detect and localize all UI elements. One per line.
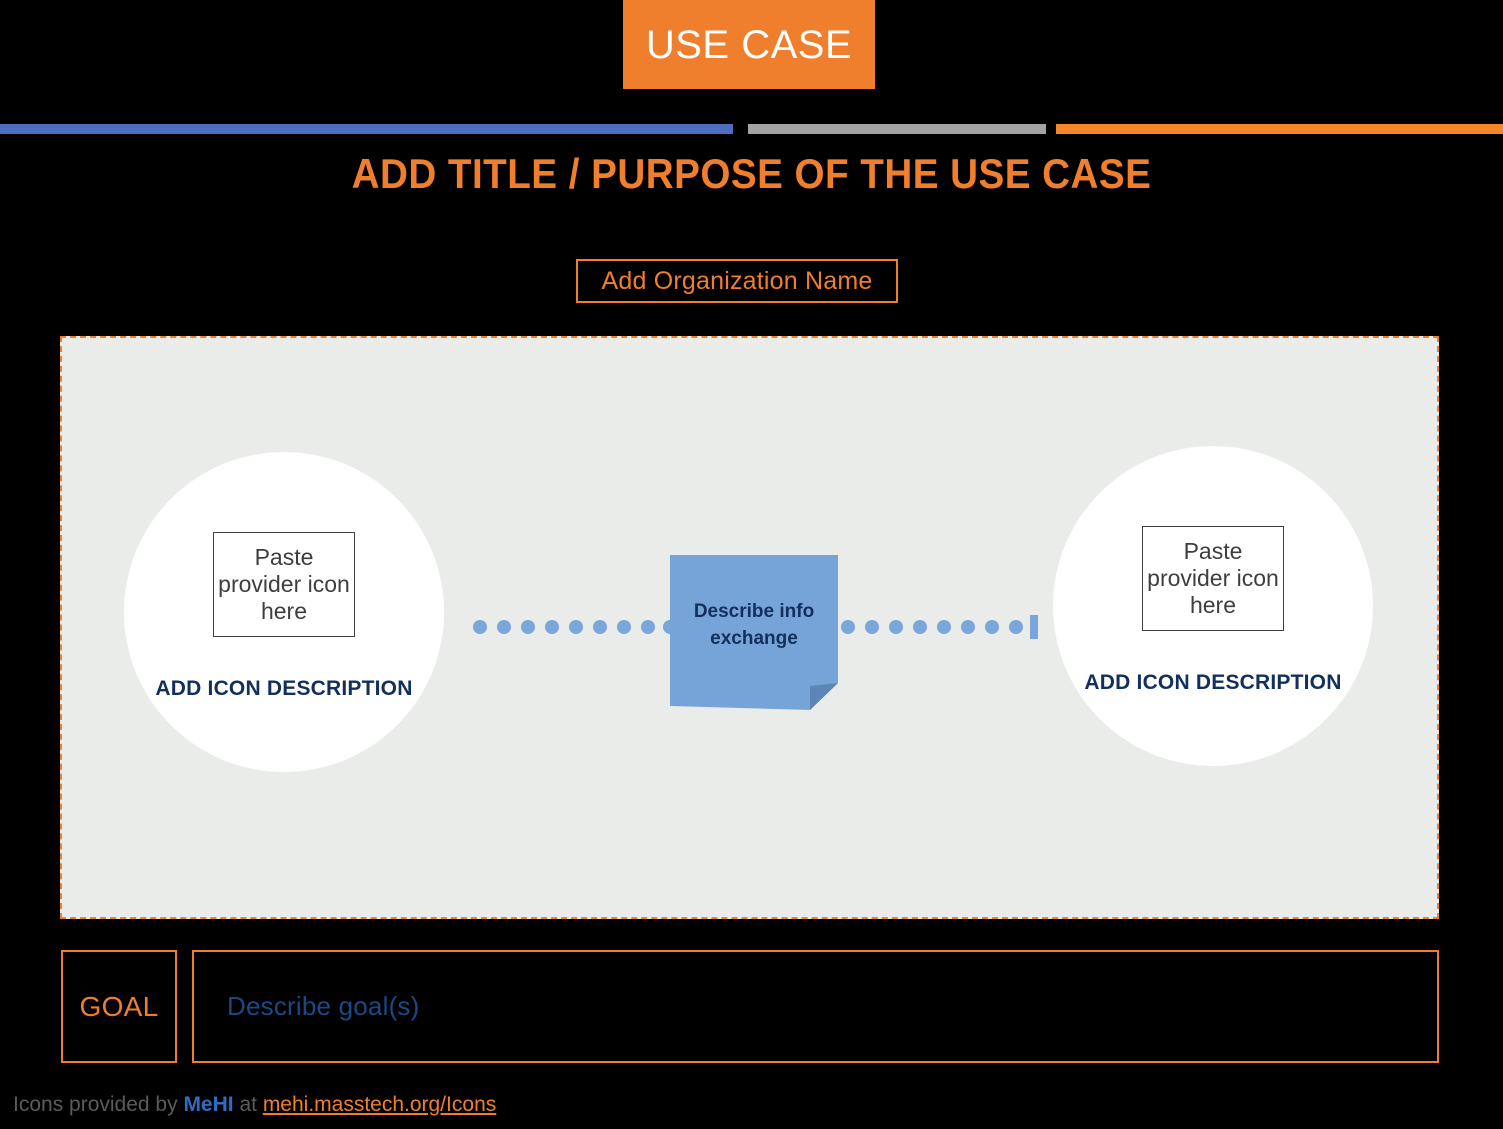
actor-caption-left: ADD ICON DESCRIPTION — [155, 675, 412, 702]
divider-segment-blue — [0, 124, 733, 134]
footer-prefix: Icons provided by — [13, 1093, 183, 1116]
footer-middle: at — [234, 1093, 263, 1116]
organization-name-label: Add Organization Name — [601, 267, 872, 296]
divider-segment-gray — [748, 124, 1046, 134]
use-case-banner: USE CASE — [623, 0, 875, 89]
use-case-banner-label: USE CASE — [646, 25, 852, 65]
connector-right-arrow — [840, 615, 1038, 639]
goal-description-field[interactable]: Describe goal(s) — [192, 950, 1439, 1063]
goal-description-value: Describe goal(s) — [227, 991, 420, 1022]
actor-left[interactable]: Paste provider icon here ADD ICON DESCRI… — [124, 452, 444, 772]
tricolor-divider — [0, 124, 1503, 134]
actor-caption-right: ADD ICON DESCRIPTION — [1084, 669, 1341, 696]
actor-right[interactable]: Paste provider icon here ADD ICON DESCRI… — [1053, 446, 1373, 766]
info-exchange-shape[interactable]: Describe info exchange — [670, 555, 838, 710]
diagram-panel: Paste provider icon here ADD ICON DESCRI… — [60, 336, 1439, 919]
connector-left-dotted — [472, 615, 678, 639]
footer-attribution: Icons provided by MeHI at mehi.masstech.… — [13, 1093, 496, 1117]
footer-link[interactable]: mehi.masstech.org/Icons — [263, 1093, 496, 1116]
provider-icon-placeholder-right[interactable]: Paste provider icon here — [1142, 526, 1284, 631]
organization-name-field[interactable]: Add Organization Name — [576, 259, 898, 303]
footer-brand: MeHI — [183, 1093, 233, 1116]
goal-tag-label: GOAL — [79, 991, 158, 1023]
provider-icon-placeholder-left[interactable]: Paste provider icon here — [213, 532, 355, 637]
goal-tag: GOAL — [61, 950, 177, 1063]
divider-segment-orange — [1056, 124, 1503, 134]
page-title: ADD TITLE / PURPOSE OF THE USE CASE — [60, 150, 1443, 198]
slide-canvas: USE CASE ADD TITLE / PURPOSE OF THE USE … — [0, 0, 1503, 1129]
